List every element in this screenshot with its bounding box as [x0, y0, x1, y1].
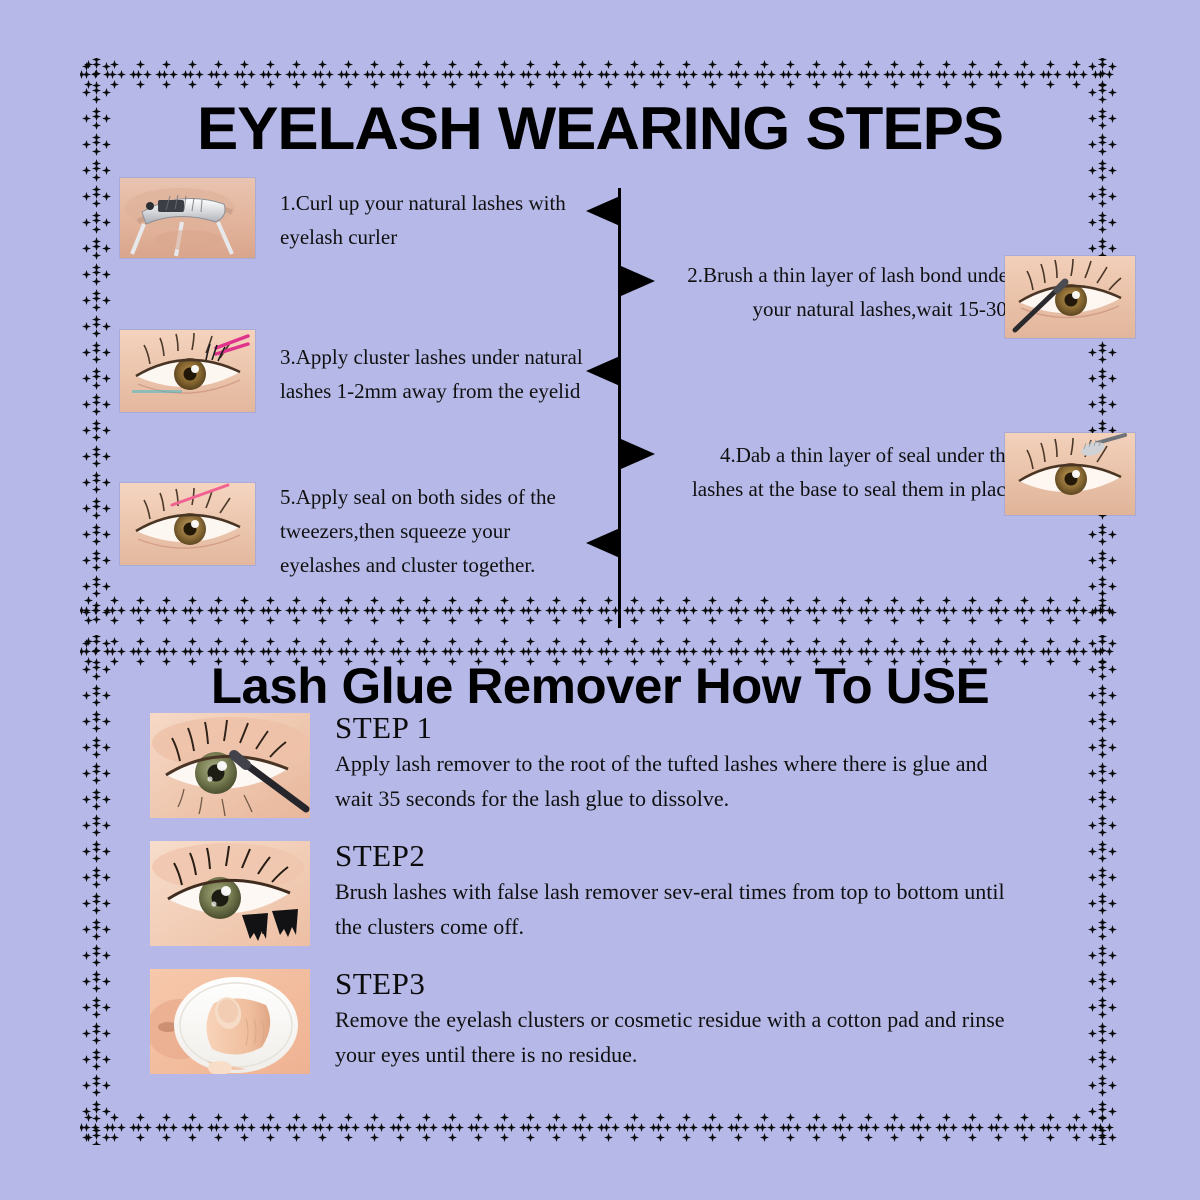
border-star-icon	[810, 606, 819, 615]
border-star-icon	[82, 478, 91, 487]
border-star-icon	[637, 70, 646, 79]
border-star-icon	[602, 70, 611, 79]
border-star-icon	[82, 1003, 91, 1012]
border-star-icon	[500, 1133, 509, 1142]
border-star-icon	[455, 647, 464, 656]
border-star-icon	[92, 407, 101, 416]
border-star-icon	[680, 70, 689, 79]
border-star-icon	[162, 1113, 171, 1122]
border-star-icon	[760, 1113, 769, 1122]
border-star-icon	[890, 637, 899, 646]
border-star-icon	[992, 70, 1001, 79]
border-star-icon	[526, 80, 535, 89]
border-star-icon	[1098, 1079, 1107, 1088]
border-star-icon	[689, 70, 698, 79]
border-star-icon	[134, 606, 143, 615]
border-star-icon	[82, 504, 91, 513]
border-star-icon	[578, 60, 587, 69]
border-star-icon	[1044, 606, 1053, 615]
border-star-icon	[102, 899, 111, 908]
border-star-icon	[734, 596, 743, 605]
border-star-icon	[968, 637, 977, 646]
border-star-icon	[92, 646, 101, 655]
border-star-icon	[968, 1133, 977, 1142]
border-star-icon	[481, 606, 490, 615]
border-star-icon	[92, 424, 101, 433]
border-star-icon	[871, 606, 880, 615]
step-4-line-1: 4.Dab a thin layer of seal under the	[658, 438, 1015, 472]
border-star-icon	[940, 647, 949, 656]
border-star-icon	[1098, 164, 1107, 173]
border-star-icon	[92, 750, 101, 759]
border-star-icon	[1070, 1123, 1079, 1132]
border-star-icon	[290, 1123, 299, 1132]
border-star-icon	[966, 647, 975, 656]
border-star-icon	[1108, 639, 1117, 648]
border-star-icon	[82, 296, 91, 305]
border-star-icon	[507, 70, 516, 79]
border-star-icon	[82, 426, 91, 435]
border-star-icon	[474, 60, 483, 69]
border-star-icon	[290, 70, 299, 79]
border-star-icon	[102, 556, 111, 565]
border-star-icon	[143, 606, 152, 615]
border-star-icon	[715, 606, 724, 615]
border-star-icon	[1098, 1105, 1107, 1114]
remover-step-1-line-1: Apply lash remover to the root of the tu…	[335, 746, 1115, 781]
border-star-icon	[812, 616, 821, 625]
border-star-icon	[102, 530, 111, 539]
border-star-icon	[266, 1133, 275, 1142]
border-star-icon	[92, 398, 101, 407]
border-star-icon	[82, 925, 91, 934]
border-star-icon	[992, 1123, 1001, 1132]
border-star-icon	[102, 639, 111, 648]
border-star-icon	[864, 616, 873, 625]
border-star-icon	[102, 1029, 111, 1038]
border-star-icon	[786, 616, 795, 625]
border-star-icon	[92, 60, 101, 69]
border-star-icon	[92, 580, 101, 589]
border-star-icon	[637, 606, 646, 615]
border-star-icon	[214, 616, 223, 625]
border-star-icon	[994, 1113, 1003, 1122]
border-star-icon	[92, 802, 101, 811]
border-star-icon	[92, 450, 101, 459]
step-2-line-1: 2.Brush a thin layer of lash bond under	[660, 258, 1015, 292]
border-star-icon	[92, 216, 101, 225]
border-star-icon	[498, 70, 507, 79]
border-star-icon	[1088, 556, 1097, 565]
border-star-icon	[916, 637, 925, 646]
border-star-icon	[264, 1123, 273, 1132]
cotton-pad-on-eye-photo	[150, 969, 310, 1074]
border-star-icon	[92, 173, 101, 182]
border-star-icon	[1044, 647, 1053, 656]
remover-step-2-line-2: the clusters come off.	[335, 909, 1115, 944]
section-one-top-border	[80, 58, 1120, 92]
border-star-icon	[102, 769, 111, 778]
border-star-icon	[812, 80, 821, 89]
step-1-text: 1.Curl up your natural lashes with eyela…	[280, 186, 605, 254]
border-star-icon	[299, 647, 308, 656]
border-star-icon	[472, 70, 481, 79]
border-star-icon	[92, 69, 101, 78]
step-1-line-1: 1.Curl up your natural lashes with	[280, 186, 605, 220]
border-star-icon	[420, 70, 429, 79]
border-star-icon	[1088, 374, 1097, 383]
border-star-icon	[82, 608, 91, 617]
border-star-icon	[940, 1123, 949, 1132]
border-star-icon	[318, 80, 327, 89]
border-star-icon	[169, 1123, 178, 1132]
border-star-icon	[422, 637, 431, 646]
border-star-icon	[143, 70, 152, 79]
border-star-icon	[1108, 530, 1117, 539]
border-star-icon	[1098, 606, 1107, 615]
border-star-icon	[604, 1133, 613, 1142]
border-star-icon	[708, 60, 717, 69]
border-star-icon	[92, 606, 101, 615]
border-star-icon	[1001, 1123, 1010, 1132]
border-star-icon	[871, 647, 880, 656]
step-5-line-1: 5.Apply seal on both sides of the	[280, 480, 610, 514]
border-star-icon	[238, 70, 247, 79]
border-star-icon	[92, 1079, 101, 1088]
border-star-icon	[708, 596, 717, 605]
border-star-icon	[1098, 407, 1107, 416]
border-star-icon	[864, 1133, 873, 1142]
border-star-icon	[871, 70, 880, 79]
border-star-icon	[741, 647, 750, 656]
border-star-icon	[682, 596, 691, 605]
border-star-icon	[1020, 596, 1029, 605]
border-star-icon	[968, 80, 977, 89]
border-star-icon	[942, 80, 951, 89]
border-star-icon	[264, 647, 273, 656]
border-star-icon	[734, 1113, 743, 1122]
border-star-icon	[682, 60, 691, 69]
border-star-icon	[1098, 372, 1107, 381]
border-star-icon	[214, 60, 223, 69]
border-star-icon	[266, 596, 275, 605]
border-star-icon	[422, 616, 431, 625]
border-star-icon	[325, 1123, 334, 1132]
border-star-icon	[576, 70, 585, 79]
border-star-icon	[1088, 244, 1097, 253]
border-star-icon	[890, 1113, 899, 1122]
border-star-icon	[264, 606, 273, 615]
border-star-icon	[923, 70, 932, 79]
border-star-icon	[630, 596, 639, 605]
border-star-icon	[715, 647, 724, 656]
border-star-icon	[663, 606, 672, 615]
border-star-icon	[448, 1133, 457, 1142]
border-star-icon	[92, 871, 101, 880]
border-star-icon	[966, 1123, 975, 1132]
border-star-icon	[82, 795, 91, 804]
border-star-icon	[82, 717, 91, 726]
border-star-icon	[299, 70, 308, 79]
border-star-icon	[786, 60, 795, 69]
border-star-icon	[1108, 244, 1117, 253]
border-star-icon	[968, 60, 977, 69]
border-star-icon	[102, 582, 111, 591]
border-star-icon	[888, 1123, 897, 1132]
border-star-icon	[240, 1113, 249, 1122]
border-star-icon	[1098, 69, 1107, 78]
remover-step-2-body: STEP2 Brush lashes with false lash remov…	[335, 837, 1115, 944]
border-star-icon	[838, 1133, 847, 1142]
border-star-icon	[351, 647, 360, 656]
border-star-icon	[429, 606, 438, 615]
border-star-icon	[82, 530, 91, 539]
border-star-icon	[578, 616, 587, 625]
border-star-icon	[1108, 608, 1117, 617]
remover-step-3-body: STEP3 Remove the eyelash clusters or cos…	[335, 965, 1115, 1072]
border-star-icon	[1088, 1107, 1097, 1116]
border-star-icon	[845, 70, 854, 79]
border-star-icon	[923, 1123, 932, 1132]
border-star-icon	[1098, 346, 1107, 355]
border-star-icon	[448, 1113, 457, 1122]
border-star-icon	[1088, 1133, 1097, 1142]
border-star-icon	[92, 355, 101, 364]
remover-step-2-line-1: Brush lashes with false lash remover sev…	[335, 874, 1115, 909]
border-star-icon	[292, 637, 301, 646]
border-star-icon	[240, 616, 249, 625]
border-star-icon	[92, 984, 101, 993]
border-star-icon	[422, 60, 431, 69]
border-star-icon	[708, 637, 717, 646]
step-5-text: 5.Apply seal on both sides of the tweeze…	[280, 480, 610, 582]
border-star-icon	[92, 880, 101, 889]
border-star-icon	[585, 647, 594, 656]
border-star-icon	[481, 1123, 490, 1132]
border-star-icon	[1020, 80, 1029, 89]
border-star-icon	[1098, 216, 1107, 225]
border-star-icon	[793, 70, 802, 79]
border-star-icon	[526, 1113, 535, 1122]
border-star-icon	[611, 70, 620, 79]
border-star-icon	[862, 70, 871, 79]
border-star-icon	[500, 596, 509, 605]
remover-step-3-label: STEP3	[335, 965, 1115, 1002]
border-star-icon	[968, 616, 977, 625]
border-star-icon	[864, 1113, 873, 1122]
border-star-icon	[507, 606, 516, 615]
border-star-icon	[92, 1027, 101, 1036]
border-star-icon	[195, 70, 204, 79]
border-star-icon	[1001, 647, 1010, 656]
border-star-icon	[1072, 1133, 1081, 1142]
border-star-icon	[949, 70, 958, 79]
border-star-icon	[949, 647, 958, 656]
border-star-icon	[604, 1113, 613, 1122]
border-star-icon	[240, 1133, 249, 1142]
border-star-icon	[370, 596, 379, 605]
border-star-icon	[92, 294, 101, 303]
border-star-icon	[82, 873, 91, 882]
border-star-icon	[862, 606, 871, 615]
border-star-icon	[914, 647, 923, 656]
border-star-icon	[102, 166, 111, 175]
border-star-icon	[786, 1113, 795, 1122]
border-star-icon	[786, 596, 795, 605]
border-star-icon	[446, 1123, 455, 1132]
border-star-icon	[734, 616, 743, 625]
border-star-icon	[994, 616, 1003, 625]
border-star-icon	[526, 596, 535, 605]
border-star-icon	[292, 1113, 301, 1122]
border-star-icon	[344, 637, 353, 646]
border-star-icon	[92, 906, 101, 915]
border-star-icon	[422, 596, 431, 605]
border-star-icon	[654, 606, 663, 615]
border-star-icon	[92, 615, 101, 624]
border-star-icon	[92, 767, 101, 776]
border-star-icon	[897, 647, 906, 656]
border-star-icon	[92, 828, 101, 837]
border-star-icon	[576, 647, 585, 656]
border-star-icon	[377, 647, 386, 656]
border-star-icon	[1108, 1133, 1117, 1142]
border-star-icon	[102, 270, 111, 279]
border-star-icon	[82, 821, 91, 830]
border-star-icon	[290, 606, 299, 615]
border-star-icon	[448, 637, 457, 646]
border-star-icon	[1044, 1123, 1053, 1132]
border-star-icon	[117, 1123, 126, 1132]
border-star-icon	[559, 606, 568, 615]
border-star-icon	[1070, 647, 1079, 656]
border-star-icon	[92, 381, 101, 390]
border-star-icon	[680, 1123, 689, 1132]
border-star-icon	[604, 60, 613, 69]
border-star-icon	[92, 958, 101, 967]
border-star-icon	[92, 793, 101, 802]
border-star-icon	[370, 616, 379, 625]
border-star-icon	[663, 1123, 672, 1132]
border-star-icon	[446, 70, 455, 79]
border-star-icon	[1046, 616, 1055, 625]
border-star-icon	[247, 606, 256, 615]
border-star-icon	[942, 1113, 951, 1122]
border-star-icon	[845, 647, 854, 656]
border-star-icon	[1020, 1133, 1029, 1142]
border-star-icon	[292, 80, 301, 89]
border-star-icon	[994, 637, 1003, 646]
border-star-icon	[578, 596, 587, 605]
border-star-icon	[578, 1133, 587, 1142]
border-star-icon	[533, 1123, 542, 1132]
border-star-icon	[689, 1123, 698, 1132]
border-star-icon	[656, 60, 665, 69]
border-star-icon	[689, 606, 698, 615]
eyelash-curler-on-eye-photo	[120, 178, 255, 258]
border-star-icon	[82, 639, 91, 648]
border-star-icon	[758, 647, 767, 656]
border-star-icon	[160, 1123, 169, 1132]
border-star-icon	[656, 616, 665, 625]
border-star-icon	[630, 637, 639, 646]
border-star-icon	[793, 647, 802, 656]
step-4-line-2: lashes at the base to seal them in place	[658, 472, 1015, 506]
border-star-icon	[604, 637, 613, 646]
border-star-icon	[812, 596, 821, 605]
border-star-icon	[916, 1113, 925, 1122]
border-star-icon	[1098, 424, 1107, 433]
border-star-icon	[498, 1123, 507, 1132]
border-star-icon	[102, 1003, 111, 1012]
border-star-icon	[552, 60, 561, 69]
border-star-icon	[602, 606, 611, 615]
border-star-icon	[628, 1123, 637, 1132]
border-star-icon	[102, 925, 111, 934]
border-star-icon	[942, 616, 951, 625]
step-2-line-2: your natural lashes,wait 15-30s	[660, 292, 1015, 326]
border-star-icon	[92, 1010, 101, 1019]
border-star-icon	[247, 647, 256, 656]
border-star-icon	[500, 1113, 509, 1122]
border-star-icon	[238, 647, 247, 656]
border-star-icon	[186, 606, 195, 615]
border-star-icon	[299, 606, 308, 615]
border-star-icon	[92, 975, 101, 984]
border-star-icon	[1020, 60, 1029, 69]
border-star-icon	[1018, 606, 1027, 615]
border-star-icon	[1046, 60, 1055, 69]
border-star-icon	[604, 596, 613, 605]
border-star-icon	[524, 647, 533, 656]
border-star-icon	[117, 647, 126, 656]
border-star-icon	[734, 1133, 743, 1142]
border-star-icon	[630, 1113, 639, 1122]
border-star-icon	[1027, 606, 1036, 615]
border-star-icon	[810, 647, 819, 656]
border-star-icon	[92, 1062, 101, 1071]
border-star-icon	[526, 616, 535, 625]
border-star-icon	[82, 452, 91, 461]
border-star-icon	[741, 606, 750, 615]
border-star-icon	[92, 563, 101, 572]
border-star-icon	[732, 647, 741, 656]
border-star-icon	[708, 1113, 717, 1122]
border-star-icon	[92, 190, 101, 199]
border-star-icon	[370, 637, 379, 646]
border-star-icon	[318, 637, 327, 646]
border-star-icon	[708, 1133, 717, 1142]
border-star-icon	[342, 606, 351, 615]
border-star-icon	[368, 606, 377, 615]
cluster-lash-tweezers-eye-photo	[120, 330, 255, 412]
border-star-icon	[604, 80, 613, 89]
border-star-icon	[942, 1133, 951, 1142]
border-star-icon	[654, 1123, 663, 1132]
border-star-icon	[342, 70, 351, 79]
border-star-icon	[92, 819, 101, 828]
border-star-icon	[221, 1123, 230, 1132]
border-star-icon	[784, 1123, 793, 1132]
border-star-icon	[134, 70, 143, 79]
border-star-icon	[292, 60, 301, 69]
border-star-icon	[1072, 637, 1081, 646]
border-star-icon	[1108, 951, 1117, 960]
border-star-icon	[524, 606, 533, 615]
border-star-icon	[550, 647, 559, 656]
border-star-icon	[162, 80, 171, 89]
border-star-icon	[422, 1133, 431, 1142]
